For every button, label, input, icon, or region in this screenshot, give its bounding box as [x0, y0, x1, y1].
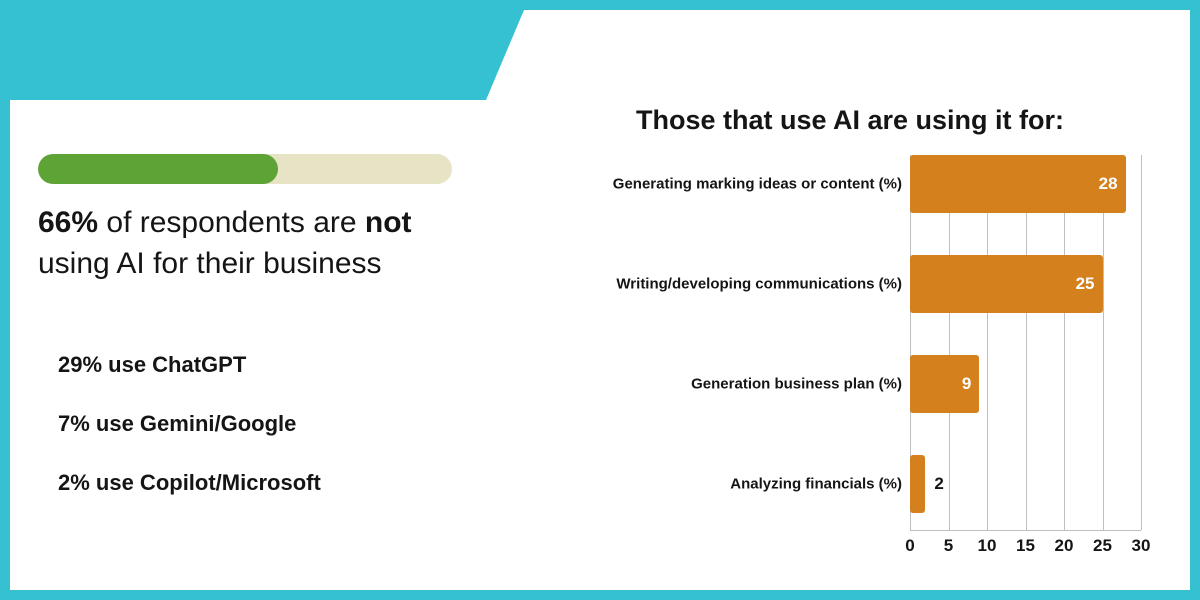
bar-category-label: Generation business plan (%)	[691, 376, 902, 393]
bar: 9	[910, 355, 979, 413]
x-tick-label: 0	[905, 536, 914, 556]
bar-chart-plot: Generating marking ideas or content (%)2…	[520, 155, 1180, 550]
bar-row: Generation business plan (%)9	[520, 355, 1180, 413]
x-tick-label: 15	[1016, 536, 1035, 556]
x-tick-label: 20	[1055, 536, 1074, 556]
chart-title: Those that use AI are using it for:	[520, 105, 1180, 136]
headline-tail: using AI for their business	[38, 247, 382, 280]
bar-row: Generating marking ideas or content (%)2…	[520, 155, 1180, 213]
x-tick-label: 25	[1093, 536, 1112, 556]
headline-stat: 66%	[38, 206, 98, 239]
progress-bar-track	[38, 154, 452, 184]
headline-middle: of respondents are	[98, 206, 365, 239]
infographic-canvas: Small business AI use 66% of respondents…	[0, 0, 1200, 600]
header-banner	[10, 10, 524, 100]
stat-list: 29% use ChatGPT 7% use Gemini/Google 2% …	[58, 352, 498, 529]
headline-statement: 66% of respondents are not using AI for …	[38, 202, 488, 284]
bar-category-label: Analyzing financials (%)	[730, 476, 902, 493]
bar-value-label: 9	[962, 374, 971, 394]
list-item: 2% use Copilot/Microsoft	[58, 470, 498, 529]
bar-row: Writing/developing communications (%)25	[520, 255, 1180, 313]
bar-category-label: Writing/developing communications (%)	[616, 276, 902, 293]
list-item: 29% use ChatGPT	[58, 352, 498, 411]
bar-value-label: 28	[1099, 174, 1118, 194]
x-tick-label: 30	[1132, 536, 1151, 556]
bar-value-label: 25	[1076, 274, 1095, 294]
x-axis-line	[910, 530, 1141, 531]
headline-emphasis: not	[365, 206, 412, 239]
x-tick-label: 5	[944, 536, 953, 556]
bar	[910, 455, 925, 513]
bar: 25	[910, 255, 1103, 313]
bar-category-label: Generating marking ideas or content (%)	[613, 176, 902, 193]
bar: 28	[910, 155, 1126, 213]
left-panel: 66% of respondents are not using AI for …	[10, 100, 520, 590]
bar-value-label: 2	[934, 474, 943, 494]
list-item: 7% use Gemini/Google	[58, 411, 498, 470]
progress-bar-fill	[38, 154, 278, 184]
chart-panel: Those that use AI are using it for: Gene…	[520, 20, 1190, 590]
x-tick-label: 10	[978, 536, 997, 556]
bar-row: Analyzing financials (%)2	[520, 455, 1180, 513]
